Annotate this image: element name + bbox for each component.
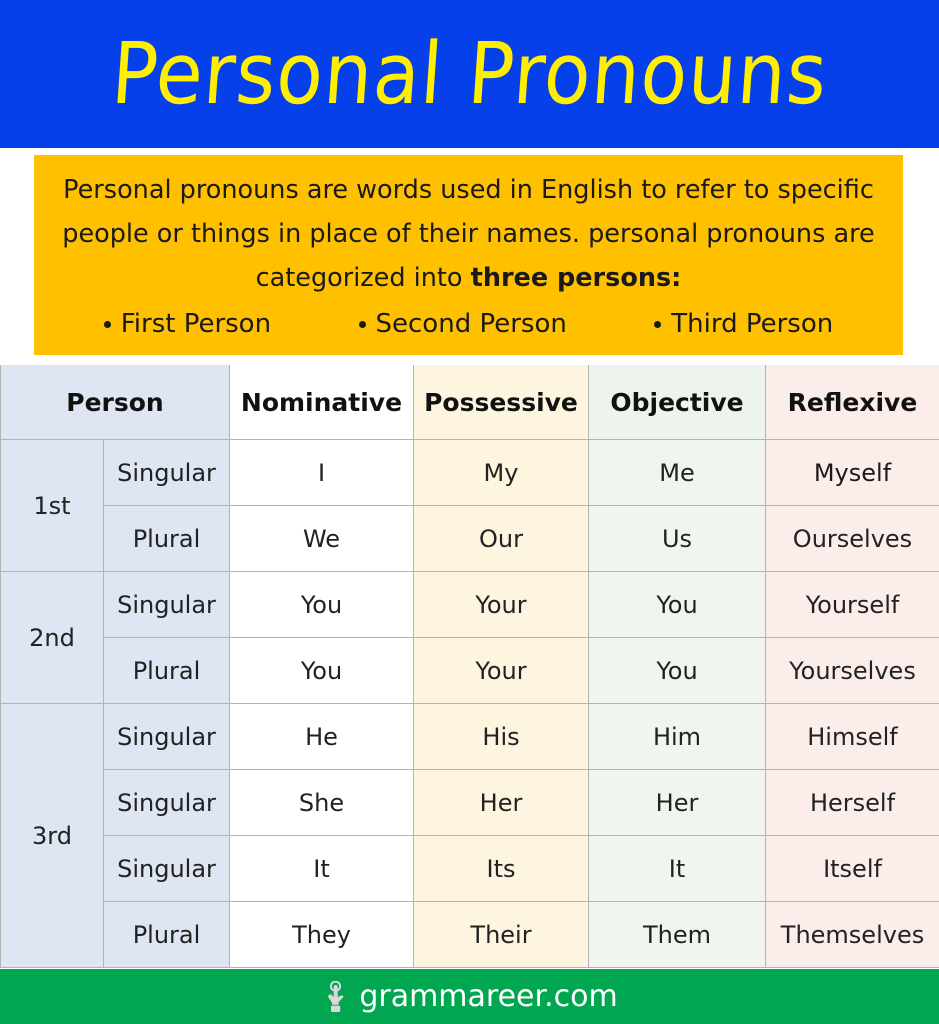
cell-reflexive: Themselves xyxy=(766,902,939,968)
cell-number: Plural xyxy=(104,902,230,968)
person-bullet-list: First Person Second Person Third Person xyxy=(54,309,883,345)
cell-reflexive: Itself xyxy=(766,836,939,902)
cell-person-label: 3rd xyxy=(1,704,104,968)
table-row: Plural We Our Us Ourselves xyxy=(1,506,939,572)
cell-nominative: They xyxy=(230,902,414,968)
cell-nominative: You xyxy=(230,638,414,704)
cell-person-label: 2nd xyxy=(1,572,104,704)
table-row: Plural They Their Them Themselves xyxy=(1,902,939,968)
column-header-objective: Objective xyxy=(589,365,766,440)
cell-number: Singular xyxy=(104,770,230,836)
footer-bar: grammareer.com xyxy=(0,969,939,1024)
cell-possessive: His xyxy=(414,704,589,770)
table-header-row: Person Nominative Possessive Objective R… xyxy=(1,365,939,440)
page-title: Personal Pronouns xyxy=(109,31,830,116)
cell-possessive: My xyxy=(414,440,589,506)
cell-reflexive: Yourselves xyxy=(766,638,939,704)
intro-paragraph: Personal pronouns are words used in Engl… xyxy=(54,169,883,301)
cell-possessive: Its xyxy=(414,836,589,902)
cell-possessive: Your xyxy=(414,572,589,638)
header-banner: Personal Pronouns xyxy=(0,0,939,148)
cell-objective: You xyxy=(589,572,766,638)
cell-number: Singular xyxy=(104,572,230,638)
column-header-possessive: Possessive xyxy=(414,365,589,440)
table-row: Singular It Its It Itself xyxy=(1,836,939,902)
list-item-label: Second Person xyxy=(376,309,567,339)
tap-hand-icon xyxy=(321,980,351,1014)
bullet-dot-icon xyxy=(654,321,661,328)
cell-nominative: I xyxy=(230,440,414,506)
list-item-label: Third Person xyxy=(671,309,833,339)
cell-number: Singular xyxy=(104,836,230,902)
cell-possessive: Their xyxy=(414,902,589,968)
cell-number: Plural xyxy=(104,506,230,572)
cell-reflexive: Yourself xyxy=(766,572,939,638)
cell-possessive: Your xyxy=(414,638,589,704)
cell-objective: Us xyxy=(589,506,766,572)
table-row: 2nd Singular You Your You Yourself xyxy=(1,572,939,638)
list-item-third-person: Third Person xyxy=(654,309,833,339)
cell-objective: You xyxy=(589,638,766,704)
cell-nominative: You xyxy=(230,572,414,638)
intro-card: Personal pronouns are words used in Engl… xyxy=(34,155,903,355)
column-header-person: Person xyxy=(1,365,230,440)
cell-objective: Her xyxy=(589,770,766,836)
list-item-first-person: First Person xyxy=(104,309,271,339)
cell-possessive: Our xyxy=(414,506,589,572)
cell-reflexive: Ourselves xyxy=(766,506,939,572)
cell-objective: Him xyxy=(589,704,766,770)
cell-nominative: We xyxy=(230,506,414,572)
bullet-dot-icon xyxy=(359,321,366,328)
cell-nominative: She xyxy=(230,770,414,836)
cell-nominative: It xyxy=(230,836,414,902)
table-row: 1st Singular I My Me Myself xyxy=(1,440,939,506)
table-row: Singular She Her Her Herself xyxy=(1,770,939,836)
column-header-reflexive: Reflexive xyxy=(766,365,939,440)
cell-reflexive: Myself xyxy=(766,440,939,506)
cell-possessive: Her xyxy=(414,770,589,836)
pronoun-table-container: Person Nominative Possessive Objective R… xyxy=(0,365,939,969)
intro-paragraph-emphasis: three persons: xyxy=(471,263,682,293)
cell-nominative: He xyxy=(230,704,414,770)
pronoun-table: Person Nominative Possessive Objective R… xyxy=(0,365,939,968)
cell-reflexive: Himself xyxy=(766,704,939,770)
intro-paragraph-text: Personal pronouns are words used in Engl… xyxy=(62,175,874,293)
cell-number: Singular xyxy=(104,704,230,770)
cell-objective: Them xyxy=(589,902,766,968)
cell-reflexive: Herself xyxy=(766,770,939,836)
table-body: 1st Singular I My Me Myself Plural We Ou… xyxy=(1,440,939,968)
site-name: grammareer.com xyxy=(359,982,617,1012)
cell-person-label: 1st xyxy=(1,440,104,572)
list-item-second-person: Second Person xyxy=(359,309,567,339)
cell-number: Singular xyxy=(104,440,230,506)
table-row: Plural You Your You Yourselves xyxy=(1,638,939,704)
cell-objective: It xyxy=(589,836,766,902)
bullet-dot-icon xyxy=(104,321,111,328)
cell-objective: Me xyxy=(589,440,766,506)
cell-number: Plural xyxy=(104,638,230,704)
table-row: 3rd Singular He His Him Himself xyxy=(1,704,939,770)
list-item-label: First Person xyxy=(121,309,271,339)
column-header-nominative: Nominative xyxy=(230,365,414,440)
